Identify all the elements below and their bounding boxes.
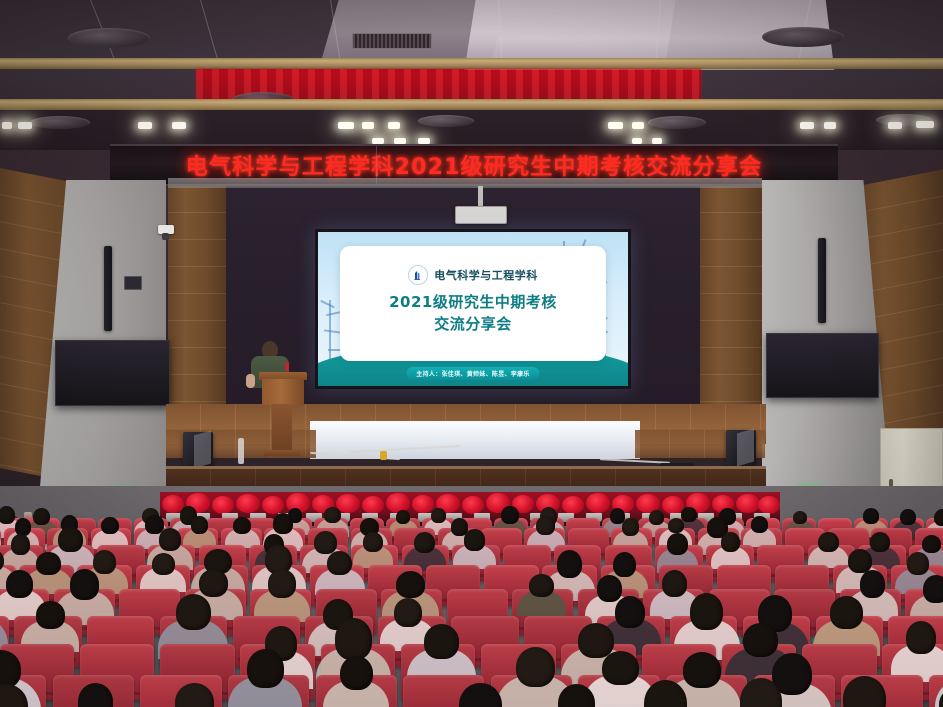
auditorium-photo: 电气科学与工程学科2021级研究生中期考核交流分享会 (0, 0, 943, 707)
audience-member-head (900, 509, 916, 526)
audience-member-head (396, 510, 410, 524)
wall-mounted-device-left (124, 276, 142, 290)
projection-screen: 电气科学与工程学科 2021级研究生中期考核 交流分享会 主持人：张佳琪、黄师妹… (315, 229, 631, 389)
upper-wall-trim (168, 178, 762, 188)
audience-member-head (396, 571, 425, 598)
ceiling-speaker-right (762, 27, 844, 47)
audience-member-head (414, 532, 435, 553)
audience-member-head (424, 624, 459, 659)
audience-member-head (907, 552, 930, 575)
audience-member-head (536, 516, 555, 535)
audience-member-head (848, 549, 872, 573)
downlight (888, 122, 902, 129)
audience-member-head (233, 517, 251, 534)
audience-member-head (501, 506, 518, 524)
downlight (2, 122, 12, 129)
audience-member-head (324, 507, 341, 523)
audience-member-head (923, 575, 943, 603)
audience-member-head (529, 574, 554, 597)
audience-member-head (830, 596, 863, 629)
downlight (172, 122, 186, 129)
audience-member-head (340, 656, 373, 690)
audience-member-head (870, 532, 890, 552)
audience-member-head (818, 532, 839, 552)
audience-member-head (690, 593, 723, 630)
audience-member-head (394, 598, 423, 627)
audience-member-head (247, 649, 284, 688)
slide-content-card: 电气科学与工程学科 2021级研究生中期考核 交流分享会 (340, 246, 607, 362)
audience-member-head (860, 570, 886, 598)
presenter-arm (246, 374, 255, 388)
audience-member-head (363, 532, 383, 552)
audience-member-head (36, 552, 60, 575)
downlight (388, 122, 400, 129)
downlight (18, 122, 32, 129)
audience-member-head (314, 531, 337, 554)
podium-body (262, 379, 304, 405)
slide-title-line1: 2021级研究生中期考核 (389, 291, 557, 312)
audience-member-head (668, 518, 684, 534)
wall-display-left (55, 340, 170, 406)
audience-member-head (602, 651, 639, 685)
audience-member-head (58, 527, 82, 552)
downlight (632, 122, 644, 129)
ceiling-speaker-soffit-r (648, 116, 706, 129)
led-banner-text: 电气科学与工程学科2021级研究生中期考核交流分享会 (186, 149, 762, 181)
column-speaker-right (818, 238, 826, 323)
audience-member-head (683, 652, 722, 689)
audience-member-head (327, 551, 352, 576)
ceiling-beam-upper (0, 58, 943, 69)
audience-member-head (681, 507, 697, 523)
audience-member-head (751, 516, 768, 533)
wood-wall-left (168, 186, 226, 441)
stage-object (380, 451, 387, 460)
wood-wall-right (700, 186, 762, 441)
slide-header: 电气科学与工程学科 (408, 265, 538, 285)
audience-member-head (159, 528, 182, 551)
audience-member-head (613, 552, 636, 577)
audience-member-head (268, 569, 296, 598)
stage-speaker-right (726, 430, 756, 466)
audience-member-head (70, 569, 100, 600)
ceiling-beam-lower (0, 99, 943, 110)
audience-member-head (152, 553, 175, 575)
slide-organization: 电气科学与工程学科 (434, 267, 538, 283)
department-emblem-icon (408, 265, 428, 285)
audience-member-head (0, 506, 15, 524)
slide-title-line2: 交流分享会 (434, 313, 512, 334)
stage-floor (310, 421, 640, 459)
audience-member-head (33, 508, 50, 526)
presentation-slide: 电气科学与工程学科 2021级研究生中期考核 交流分享会 主持人：张佳琪、黄师妹… (318, 232, 628, 386)
podium-foot (264, 450, 300, 456)
downlight (362, 122, 374, 129)
downlight (338, 122, 354, 129)
ceiling-projector (455, 206, 507, 224)
wall-display-right (766, 333, 879, 398)
audience-member-head (36, 601, 65, 629)
audience-member-head (622, 518, 640, 536)
audience-member-head (464, 529, 486, 551)
air-vent (352, 33, 432, 49)
audience-member-head (922, 535, 941, 553)
audience-member-head (431, 508, 446, 523)
column-speaker-left (104, 246, 112, 331)
stage-cable (238, 438, 244, 464)
audience-member-head (597, 575, 622, 602)
audience-member-head (191, 516, 208, 534)
audience-member-head (11, 534, 30, 555)
audience-member-head (93, 550, 116, 574)
downlight (608, 122, 623, 129)
audience-member-head (273, 513, 293, 534)
slide-host-line: 主持人：张佳琪、黄师妹、陈昱、李康乐 (406, 367, 539, 380)
downlight (138, 122, 152, 129)
stage-speaker-left (183, 432, 213, 468)
downlight (824, 122, 836, 129)
audience-member-head (6, 570, 33, 598)
downlight (800, 122, 814, 129)
downlight (916, 121, 934, 128)
audience-member-head (516, 647, 555, 687)
audience-member-head (176, 594, 211, 630)
audience-member-head (934, 509, 943, 527)
surveillance-camera (158, 225, 174, 234)
audience-member-head (743, 623, 778, 658)
audience-member-head (662, 570, 687, 597)
audience-member-head (199, 569, 228, 597)
ceiling-panel-center-3 (321, 0, 508, 60)
ceiling-speaker-left (68, 28, 150, 48)
audience-member-head (578, 623, 614, 658)
projector-pole (478, 186, 483, 208)
ceiling (0, 0, 943, 152)
audience-member-head (615, 596, 645, 628)
audience-member-head (101, 517, 119, 535)
podium-base (272, 404, 292, 454)
ceiling-speaker-soffit-c (418, 115, 474, 127)
audience-seating (0, 500, 943, 707)
audience-member-head (721, 532, 740, 552)
ceiling-speaker-soffit-l (30, 116, 90, 129)
audience-member-head (557, 550, 583, 578)
audience-member-head (335, 618, 373, 660)
microphone-indicator (285, 362, 289, 371)
audience-member-head (863, 508, 880, 524)
audience-member-head (793, 511, 808, 525)
audience-member-head (649, 510, 664, 525)
audience-member-head (667, 533, 688, 555)
audience-member-head (906, 621, 936, 654)
